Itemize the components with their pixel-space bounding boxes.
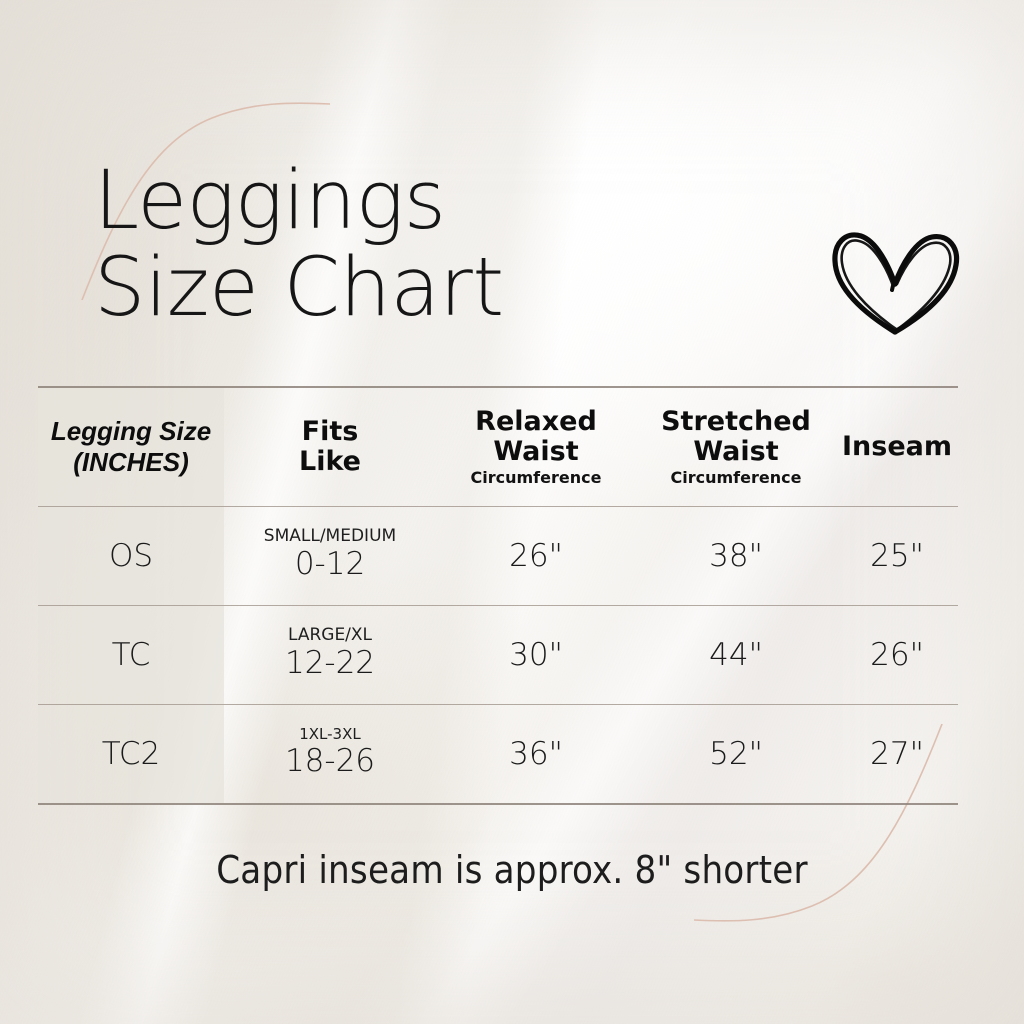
value-size: OS [109,538,153,574]
header-legging-size-sublabel: (INCHES) [73,447,189,478]
value-fits-range: 0-12 [295,547,365,581]
header-relaxed-sublabel: Waist [493,437,578,468]
value-fits-label: SMALL/MEDIUM [264,527,396,546]
size-chart-table: Legging Size (INCHES) Fits Like Relaxed … [38,386,958,805]
header-legging-size-label: Legging Size [51,416,211,447]
cell-inseam: 26" [836,606,958,704]
header-stretched-sublabel: Waist [693,437,778,468]
footer-note: Capri inseam is approx. 8" shorter [0,848,1024,892]
cell-relaxed-waist: 26" [436,507,636,605]
table-bottom-rule [38,803,958,805]
value-size: TC2 [102,736,161,772]
value-inseam: 26" [870,638,924,672]
value-inseam: 27" [870,737,924,771]
header-relaxed-caption: Circumference [471,469,602,487]
table-row: TC LARGE/XL 12-22 30" 44" 26" [38,606,958,704]
cell-size: OS [38,507,224,605]
cell-size: TC [38,606,224,704]
page-title: Leggings Size Chart [94,158,714,333]
cell-relaxed-waist: 36" [436,705,636,803]
page-title-line-1: Leggings [94,158,714,245]
value-size: TC [112,637,151,673]
header-cell-legging-size: Legging Size (INCHES) [38,388,224,506]
header-cell-fits-like: Fits Like [224,388,436,506]
header-stretched-caption: Circumference [671,469,802,487]
cell-stretched-waist: 44" [636,606,836,704]
table-header-row: Legging Size (INCHES) Fits Like Relaxed … [38,388,958,506]
value-relaxed-waist: 30" [509,638,563,672]
cell-fits-like: SMALL/MEDIUM 0-12 [224,507,436,605]
cell-relaxed-waist: 30" [436,606,636,704]
cell-inseam: 27" [836,705,958,803]
cell-size: TC2 [38,705,224,803]
header-relaxed-label: Relaxed [475,407,597,438]
cell-inseam: 25" [836,507,958,605]
value-relaxed-waist: 26" [509,539,563,573]
header-stretched-label: Stretched [661,407,811,438]
value-stretched-waist: 44" [709,638,763,672]
value-stretched-waist: 38" [709,539,763,573]
cell-stretched-waist: 52" [636,705,836,803]
heart-doodle-icon [826,214,966,338]
value-fits-label: LARGE/XL [288,626,372,645]
value-inseam: 25" [870,539,924,573]
value-fits-range: 12-22 [285,646,375,680]
cell-stretched-waist: 38" [636,507,836,605]
size-chart-canvas: Leggings Size Chart Legging Size (INCHES… [0,0,1024,1024]
cell-fits-like: 1XL-3XL 18-26 [224,705,436,803]
header-cell-relaxed-waist: Relaxed Waist Circumference [436,388,636,506]
table-row: TC2 1XL-3XL 18-26 36" 52" 27" [38,705,958,803]
header-inseam-label: Inseam [842,432,952,463]
value-fits-label: 1XL-3XL [299,726,361,743]
cell-fits-like: LARGE/XL 12-22 [224,606,436,704]
header-cell-inseam: Inseam [836,388,958,506]
value-relaxed-waist: 36" [509,737,563,771]
header-fits-sublabel: Like [299,447,361,478]
value-fits-range: 18-26 [285,744,375,778]
table-row: OS SMALL/MEDIUM 0-12 26" 38" 25" [38,507,958,605]
value-stretched-waist: 52" [709,737,763,771]
header-cell-stretched-waist: Stretched Waist Circumference [636,388,836,506]
header-fits-label: Fits [302,417,359,448]
page-title-line-2: Size Chart [94,245,714,332]
